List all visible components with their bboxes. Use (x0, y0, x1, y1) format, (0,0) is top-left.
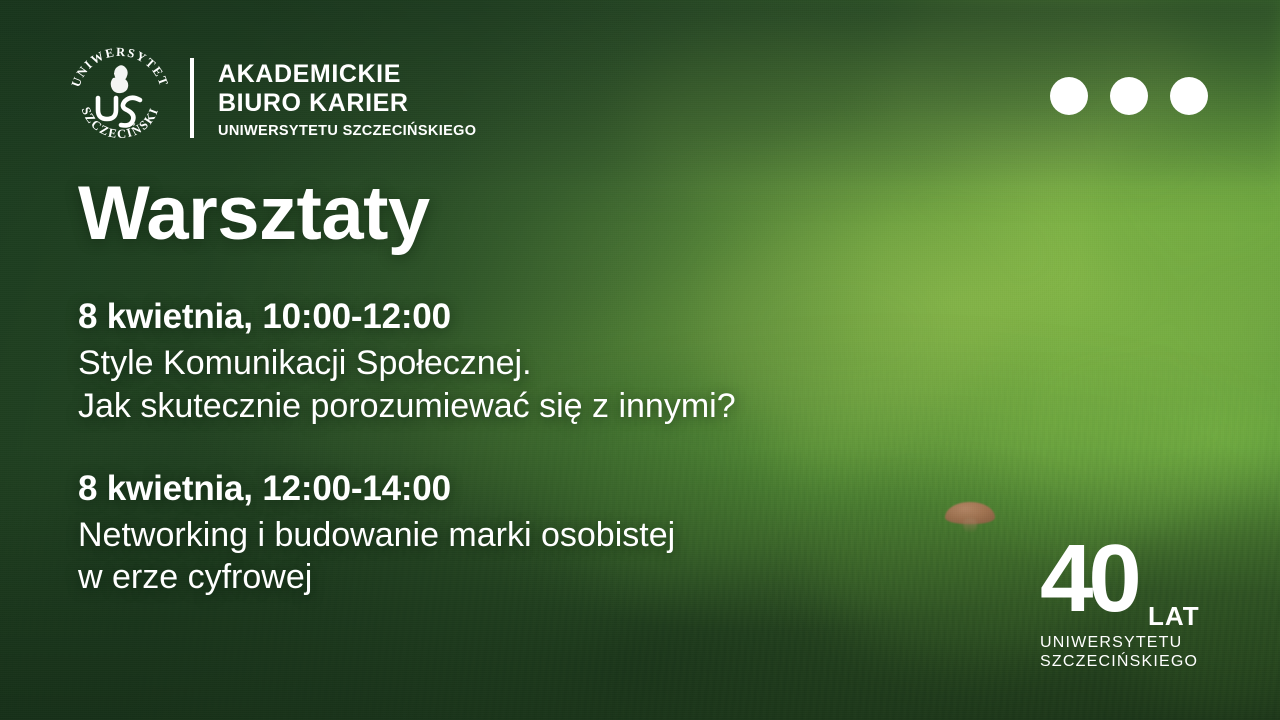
brand-line-1: AKADEMICKIE (218, 60, 476, 90)
main-content: Warsztaty 8 kwietnia, 10:00-12:00 Style … (78, 176, 1018, 599)
three-dots-decoration (1050, 77, 1208, 115)
event-description: Style Komunikacji Społecznej. Jak skutec… (78, 342, 1018, 428)
brand-block: AKADEMICKIE BIURO KARIER UNIWERSYTETU SZ… (218, 58, 476, 139)
dot-3 (1170, 77, 1208, 115)
event-item: 8 kwietnia, 12:00-14:00 Networking i bud… (78, 468, 1018, 600)
anniversary-number-glyph: 40 (1040, 533, 1138, 629)
dot-1 (1050, 77, 1088, 115)
poster-canvas: UNIWERSYTET SZCZECIŃSKI (0, 0, 1280, 720)
anniversary-logo: 40 LAT UNIWERSYTETU SZCZECIŃSKIEGO (1032, 533, 1222, 672)
anniversary-subtitle-line: UNIWERSYTETU (1040, 633, 1222, 653)
event-description-line: Networking i budowanie marki osobistej (78, 514, 1018, 557)
dot-2 (1110, 77, 1148, 115)
anniversary-subtitle-line: SZCZECIŃSKIEGO (1040, 652, 1222, 672)
header: UNIWERSYTET SZCZECIŃSKI (64, 42, 476, 154)
page-title: Warsztaty (78, 176, 1018, 252)
event-datetime: 8 kwietnia, 10:00-12:00 (78, 296, 1018, 338)
event-description: Networking i budowanie marki osobistej w… (78, 514, 1018, 600)
event-datetime: 8 kwietnia, 12:00-14:00 (78, 468, 1018, 510)
event-description-line: w erze cyfrowej (78, 556, 1018, 599)
events-list: 8 kwietnia, 10:00-12:00 Style Komunikacj… (78, 296, 1018, 599)
brand-line-2: BIURO KARIER (218, 89, 476, 119)
university-seal-icon: UNIWERSYTET SZCZECIŃSKI (64, 42, 176, 154)
brand-line-3: UNIWERSYTETU SZCZECIŃSKIEGO (218, 124, 476, 139)
anniversary-subtitle: UNIWERSYTETU SZCZECIŃSKIEGO (1032, 633, 1222, 672)
event-description-line: Jak skutecznie porozumiewać się z innymi… (78, 385, 1018, 428)
header-divider (190, 58, 194, 138)
event-item: 8 kwietnia, 10:00-12:00 Style Komunikacj… (78, 296, 1018, 428)
event-description-line: Style Komunikacji Społecznej. (78, 342, 1018, 385)
anniversary-unit-glyph: LAT (1148, 601, 1200, 629)
anniversary-mark: 40 LAT (1032, 533, 1222, 629)
